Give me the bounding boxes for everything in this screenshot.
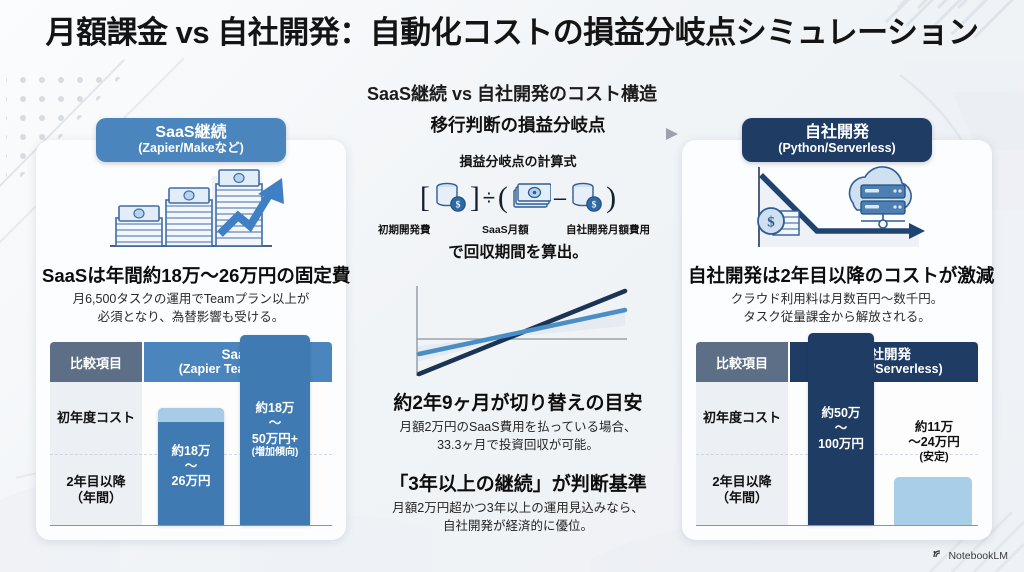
stat-desc-line: 月額2万円のSaaS費用を払っている場合、 [360,418,676,436]
stat-breakeven-desc: 月額2万円のSaaS費用を払っている場合、 33.3ヶ月で投資回収が可能。 [360,418,676,454]
table-row: 初年度コスト [696,382,788,454]
table-row: 初年度コスト [50,382,142,454]
bar-note: (増加傾向) [252,447,299,459]
badge-inhouse: 自社開発 (Python/Serverless) [742,118,932,162]
row-label: 2年目以降 [66,474,125,490]
row-label: 初年度コスト [57,410,135,426]
panel-inhouse-headline: 自社開発は2年目以降のコストが激減 [688,262,986,288]
table-saas-body: 初年度コスト 2年目以降 （年間） 約18万 〜 26万円 [50,382,332,526]
row-sublabel: （年間） [716,490,768,506]
bar-value-line: 〜 [835,421,848,435]
stat-desc-line: 月額2万円超かつ3年以上の運用見込みなら、 [360,499,676,517]
table-saas: 比較項目 SaaS (Zapier Teamプラン) 初年度コスト 2年目以降 … [50,342,332,526]
bar-value-line: 約11万 [915,420,953,434]
page-subtitle: SaaS継続 vs 自社開発のコスト構造 [0,80,1024,106]
formula-term-labels: 初期開発費 SaaS月額 自社開発月額費用 [360,222,676,238]
title-area: 月額課金 vs 自社開発：自動化コストの損益分岐点シミュレーション [0,14,1024,51]
panel-center: 移行判断の損益分岐点 損益分岐点の計算式 [ $ ] ÷ ( [360,112,676,536]
divide-operator: ÷ [483,187,495,209]
slide-canvas: 月額課金 vs 自社開発：自動化コストの損益分岐点シミュレーション SaaS継続… [0,0,1024,572]
bracket-open: [ [420,183,430,213]
formula-term-1: 初期開発費 [378,222,431,237]
inhouse-recurring-label: 約11万 〜24万円 (安定) [888,420,980,464]
bar-value-line: 約18万 [256,401,295,415]
stat-desc-line: 33.3ヶ月で投資回収が可能。 [360,436,676,454]
table-inhouse-bars: 約50万 〜 100万円 約11万 〜24万円 (安定) [790,382,978,526]
formula-result: で回収期間を算出。 [360,240,676,262]
coin-stack-icon: $ [569,179,603,218]
watermark-label: NotebookLM [948,550,1008,562]
declining-cost-cloud-icon: $ [682,158,992,254]
coin-stack-icon: $ [433,179,467,218]
bracket-close: ] [470,183,480,213]
stat-breakeven-title: 約2年9ヶ月が切り替えの目安 [360,388,676,415]
table-saas-axis [50,525,332,526]
table-row: 2年目以降 （年間） [50,454,142,527]
badge-inhouse-subtitle: (Python/Serverless) [778,142,895,155]
saas-firstyear-bar: 約18万 〜 50万円+ (増加傾向) [240,335,310,525]
formula-term-3: 自社開発月額費用 [566,222,650,237]
bar-value-line: 〜 [269,416,282,430]
svg-text:$: $ [455,199,460,210]
panel-saas-headline: SaaSは年間約18万〜26万円の固定費 [42,262,340,288]
paren-open: ( [498,183,508,213]
table-saas-row-labels: 初年度コスト 2年目以降 （年間） [50,382,144,526]
row-sublabel: （年間） [70,490,122,506]
svg-text:$: $ [767,215,775,231]
crossing-lines-breakeven-icon [403,278,633,382]
stat-criteria-title: 「3年以上の継続」が判断基準 [360,469,676,496]
table-saas-bars: 約18万 〜 26万円 約18万 〜 50万円+ (増加傾向) [144,382,332,526]
stat-criteria: 「3年以上の継続」が判断基準 月額2万円超かつ3年以上の運用見込みなら、 自社開… [360,469,676,535]
bar-value-line: 26万円 [172,474,211,488]
formula-term-2: SaaS月額 [482,222,529,237]
table-inhouse: 比較項目 自社開発 (Python/Serverless) 初年度コスト 2年目… [696,342,978,526]
bar-value-line: 〜 [185,459,198,473]
panel-saas: SaaSは年間約18万〜26万円の固定費 月6,500タスクの運用でTeamプラ… [36,140,346,540]
saas-recurring-bar: 約18万 〜 26万円 [158,408,224,525]
row-label: 2年目以降 [712,474,771,490]
bar-value-line: 約50万 [822,406,861,420]
rising-money-stacks-icon [36,158,346,254]
bar-value-line: 50万円+ [252,432,298,446]
badge-saas-title: SaaS継続 [155,125,226,142]
paren-close: ) [606,183,616,213]
panel-inhouse-subline-2: タスク従量課金から解放される。 [696,308,978,326]
table-inhouse-row-labels: 初年度コスト 2年目以降 （年間） [696,382,790,526]
panel-saas-subline: 月6,500タスクの運用でTeamプラン以上が 必須となり、為替影響も受ける。 [50,290,332,326]
inhouse-firstyear-bar: 約50万 〜 100万円 [808,333,874,525]
table-inhouse-col1-header: 比較項目 [696,342,790,382]
center-heading: 移行判断の損益分岐点 [360,112,676,137]
bar-value-line: 約18万 [172,444,211,458]
formula-caption: 損益分岐点の計算式 [360,151,676,170]
svg-text:$: $ [592,199,597,210]
panel-saas-subline-1: 月6,500タスクの運用でTeamプラン以上が [50,290,332,308]
stat-criteria-desc: 月額2万円超かつ3年以上の運用見込みなら、 自社開発が経済的に優位。 [360,499,676,535]
watermark: NotebookLM [932,548,1008,563]
row-label: 初年度コスト [703,410,781,426]
notebooklm-icon [932,548,944,563]
panel-inhouse-subline: クラウド利用料は月数百円〜数千円。 タスク従量課金から解放される。 [696,290,978,326]
badge-saas: SaaS継続 (Zapier/Makeなど) [96,118,286,162]
breakeven-formula: [ $ ] ÷ ( [360,174,676,222]
bar-value-line: 100万円 [818,437,864,451]
inhouse-recurring-bar [894,477,972,525]
minus-operator: – [554,187,566,209]
bar-value-line: 〜24万円 [908,435,959,449]
badge-saas-subtitle: (Zapier/Makeなど) [138,142,244,155]
badge-inhouse-title: 自社開発 [805,125,869,142]
stat-desc-line: 自社開発が経済的に優位。 [360,517,676,535]
page-title: 月額課金 vs 自社開発：自動化コストの損益分岐点シミュレーション [0,14,1024,51]
table-inhouse-body: 初年度コスト 2年目以降 （年間） 約50万 〜 100万円 [696,382,978,526]
stat-breakeven: 約2年9ヶ月が切り替えの目安 月額2万円のSaaS費用を払っている場合、 33.… [360,388,676,454]
banknote-icon [511,181,551,216]
panel-saas-subline-2: 必須となり、為替影響も受ける。 [50,308,332,326]
panel-inhouse-subline-1: クラウド利用料は月数百円〜数千円。 [696,290,978,308]
bar-note: (安定) [888,451,980,464]
table-saas-col1-header: 比較項目 [50,342,144,382]
table-row: 2年目以降 （年間） [696,454,788,527]
panel-inhouse: $ 自社開発は2年目以降のコス [682,140,992,540]
table-inhouse-axis [696,525,978,526]
